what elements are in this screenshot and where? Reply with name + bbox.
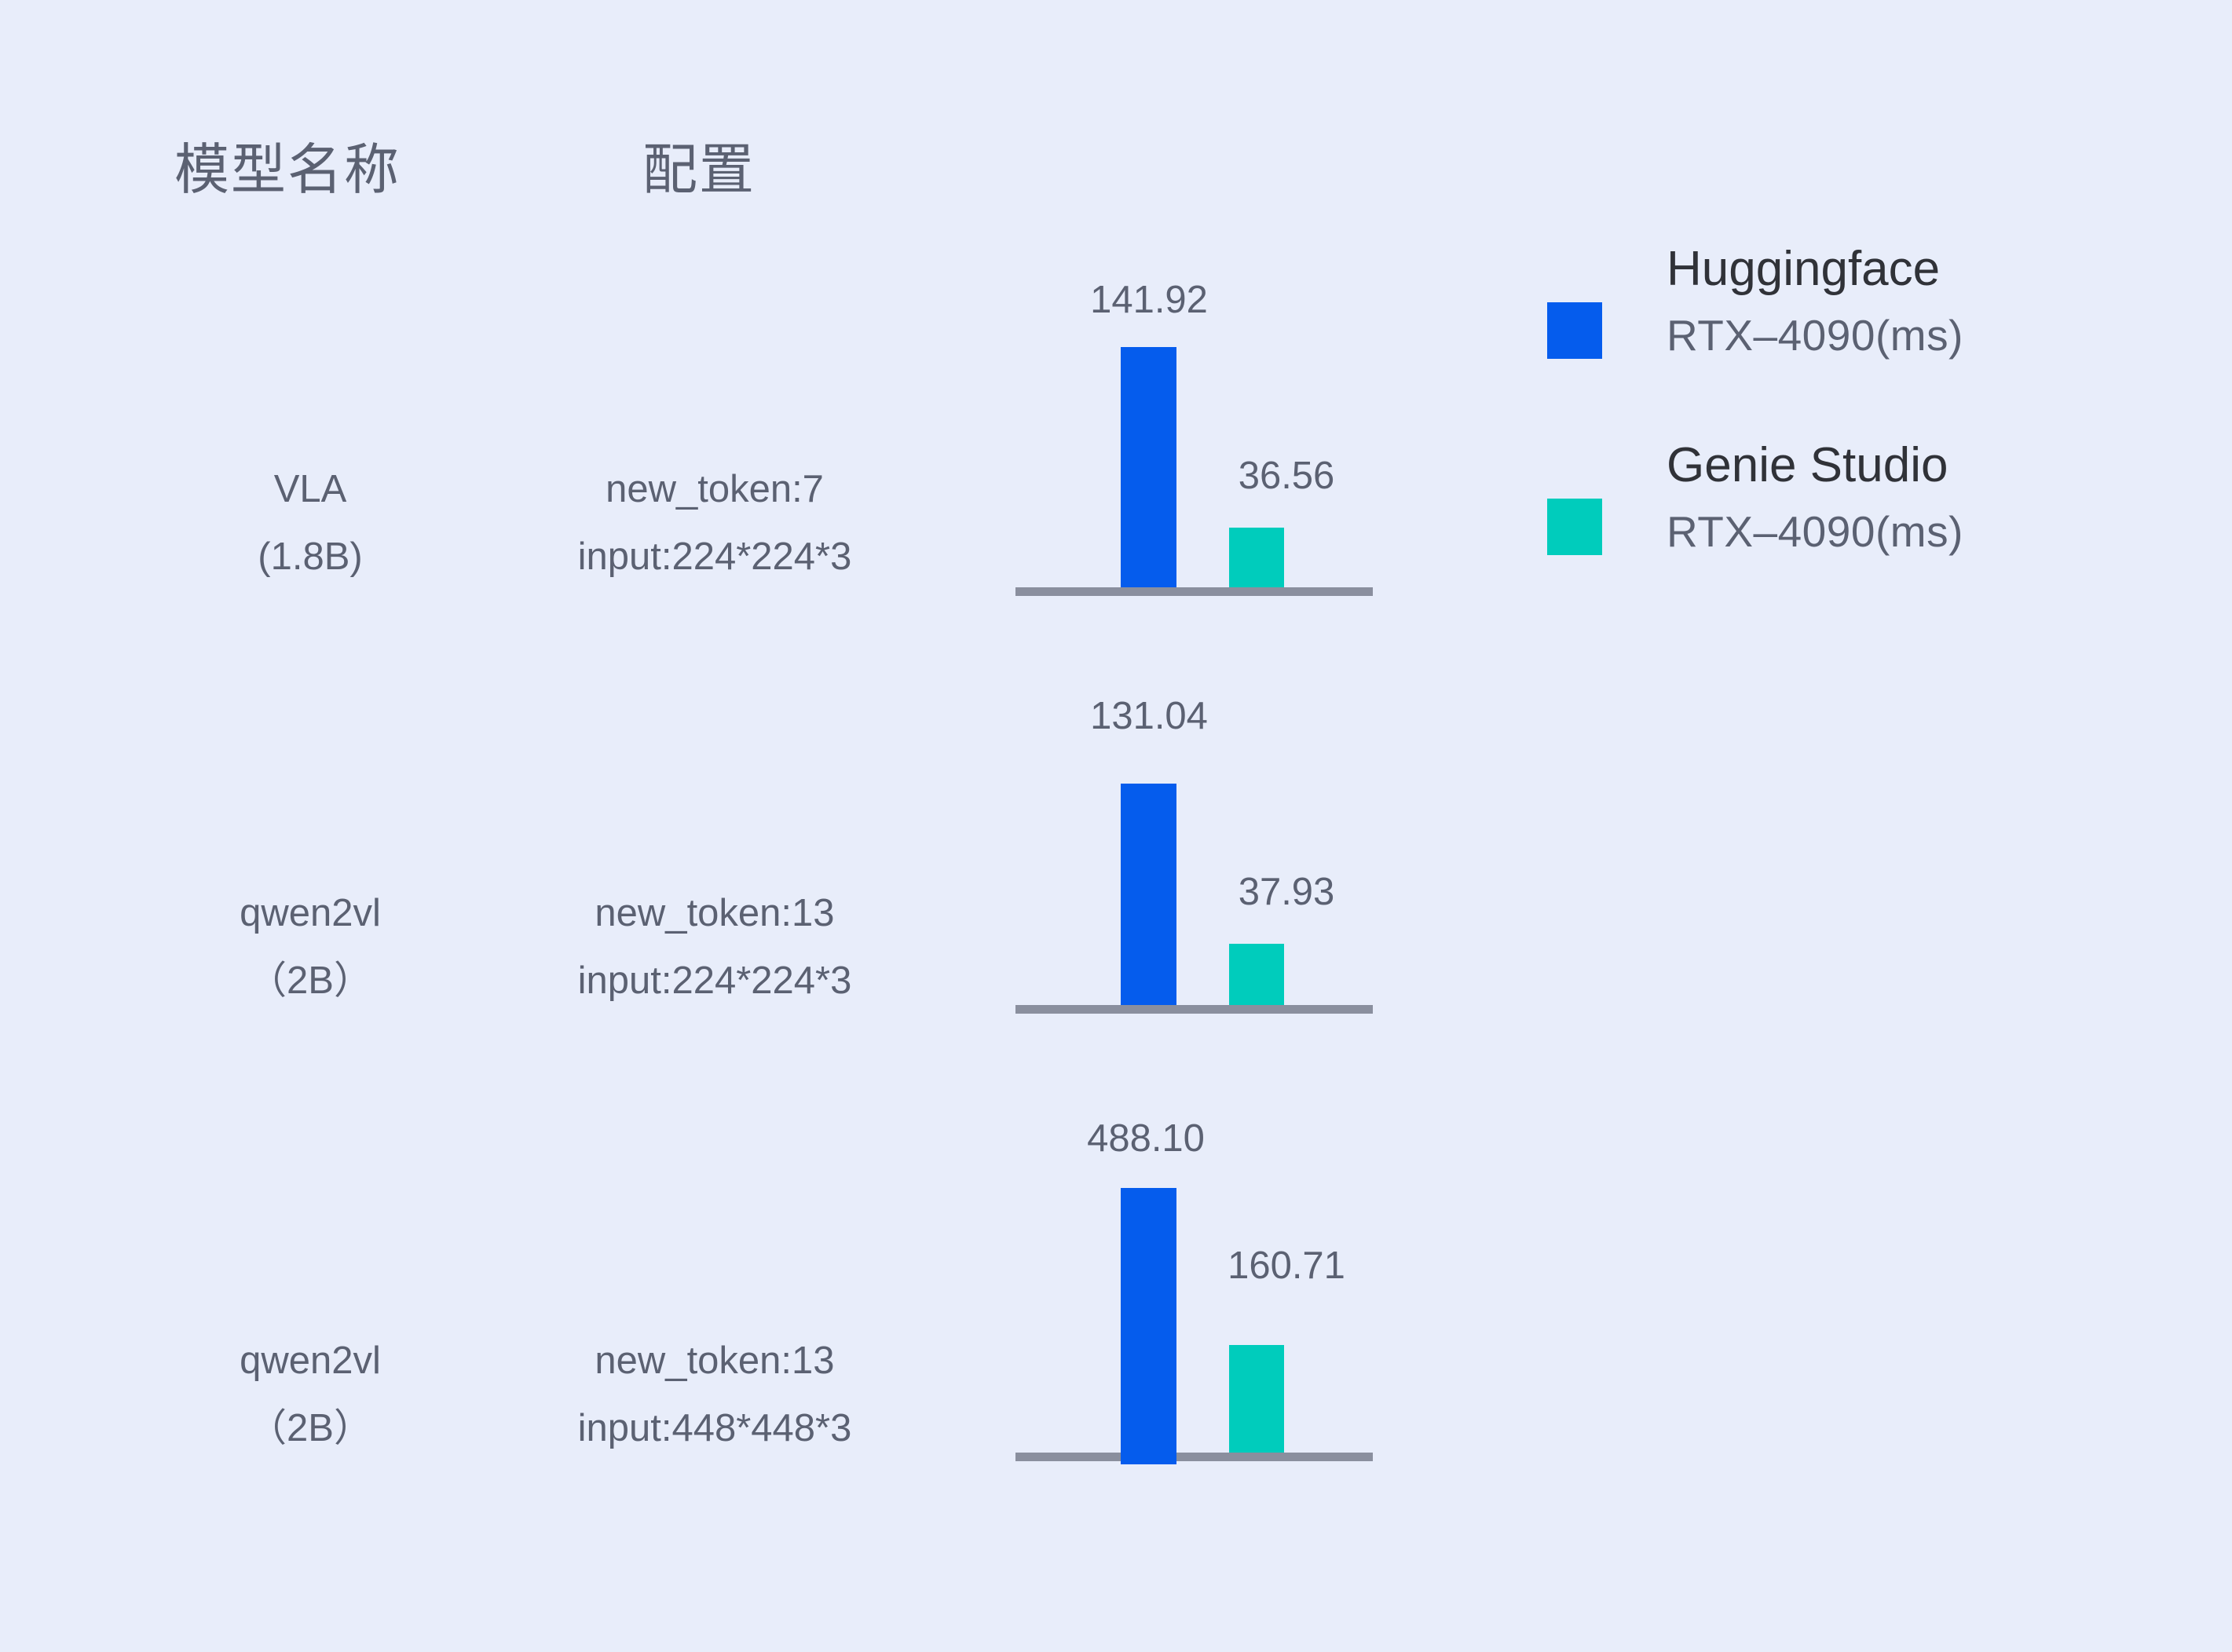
legend-text-genie-studio: Genie Studio RTX–4090(ms) [1667,432,1963,564]
chart-page: 模型名称 配置 VLA (1.8B) new_token:7 input:224… [0,0,2232,1652]
legend-sublabel-genie-studio: RTX–4090(ms) [1667,499,1963,564]
row-model-name-line2: （2B） [145,1394,475,1462]
row-chart: 131.04 37.93 [1015,675,1377,1014]
row-config-line1: new_token:13 [440,879,990,947]
chart-baseline [1015,1453,1373,1461]
row-config-line2: input:224*224*3 [440,947,990,1014]
legend-label-huggingface: Huggingface [1667,236,1963,303]
row-model-name: qwen2vl （2B） [145,879,475,1014]
chart-legend: Huggingface RTX–4090(ms) Genie Studio RT… [1547,236,2113,628]
legend-label-genie-studio: Genie Studio [1667,432,1963,499]
row-model-name-line2: (1.8B) [145,523,475,590]
row-config: new_token:13 input:448*448*3 [440,1327,990,1462]
row-config-line2: input:448*448*3 [440,1394,990,1462]
row-config-line1: new_token:13 [440,1327,990,1394]
bar-label-huggingface: 141.92 [1031,281,1267,320]
row-model-name-line1: VLA [145,455,475,523]
bar-label-genie-studio: 160.71 [1169,1247,1404,1285]
row-config: new_token:13 input:224*224*3 [440,879,990,1014]
bar-huggingface[interactable] [1121,1188,1176,1464]
row-model-name-line2: （2B） [145,947,475,1014]
legend-swatch-genie-studio [1547,499,1602,555]
row-config-line2: input:224*224*3 [440,523,990,590]
chart-baseline [1015,587,1373,596]
column-header-model-name: 模型名称 [174,126,401,205]
row-model-name: qwen2vl （2B） [145,1327,475,1462]
bar-genie-studio[interactable] [1229,1345,1284,1453]
bar-label-huggingface: 488.10 [1028,1120,1264,1158]
bar-genie-studio[interactable] [1229,944,1284,1005]
row-chart: 141.92 36.56 [1015,259,1377,597]
bar-label-genie-studio: 37.93 [1169,873,1404,912]
bar-label-huggingface: 131.04 [1031,697,1267,736]
legend-text-huggingface: Huggingface RTX–4090(ms) [1667,236,1963,367]
bar-genie-studio[interactable] [1229,528,1284,587]
legend-item-genie-studio[interactable]: Genie Studio RTX–4090(ms) [1547,432,2113,628]
row-model-name: VLA (1.8B) [145,455,475,590]
chart-baseline [1015,1005,1373,1014]
row-chart: 488.10 160.71 [1015,1099,1377,1464]
row-config: new_token:7 input:224*224*3 [440,455,990,590]
row-model-name-line1: qwen2vl [145,879,475,947]
bar-label-genie-studio: 36.56 [1169,457,1404,495]
row-config-line1: new_token:7 [440,455,990,523]
legend-item-huggingface[interactable]: Huggingface RTX–4090(ms) [1547,236,2113,432]
legend-sublabel-huggingface: RTX–4090(ms) [1667,303,1963,367]
row-model-name-line1: qwen2vl [145,1327,475,1394]
legend-swatch-huggingface [1547,302,1602,359]
column-header-config: 配置 [642,126,756,205]
